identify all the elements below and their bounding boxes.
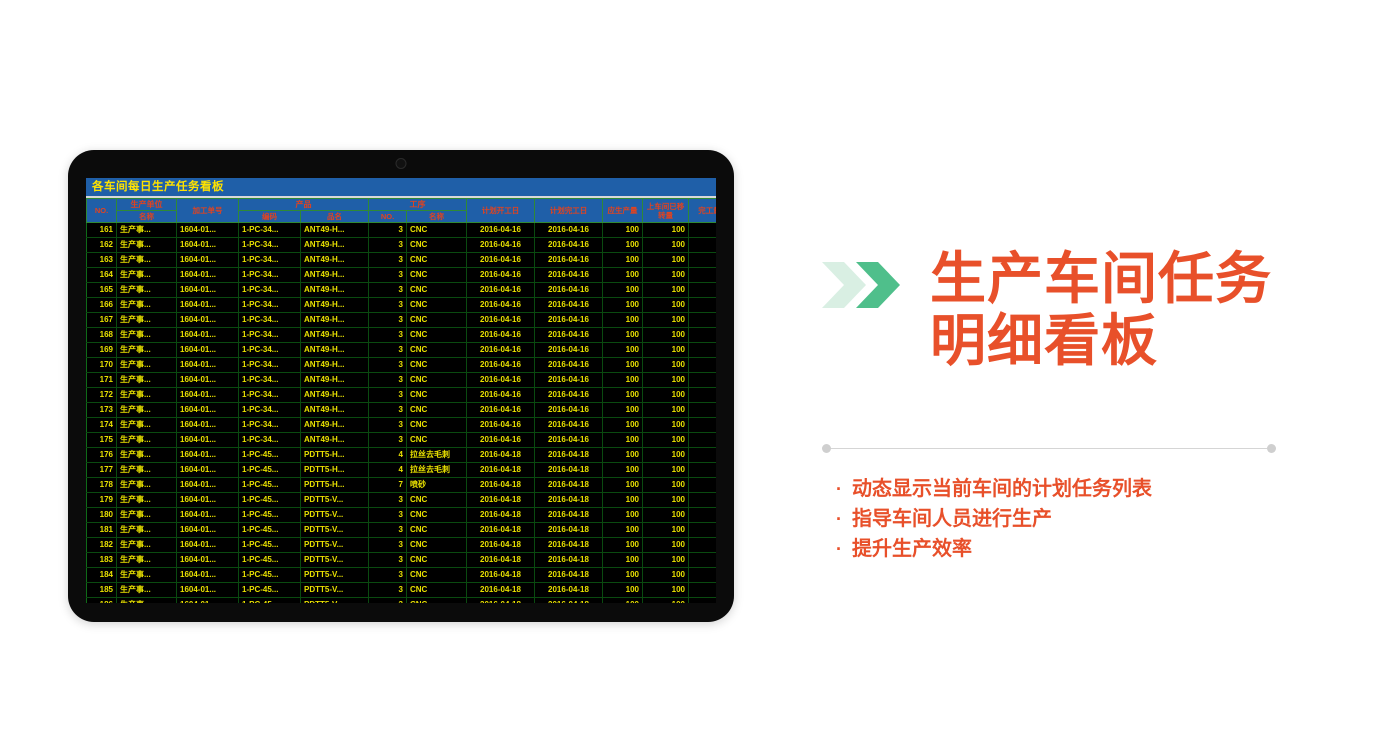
table-row[interactable]: 173生产事...1604-01...1-PC-34...ANT49-H...3… bbox=[87, 403, 717, 418]
row-plan-qty: 100 bbox=[603, 223, 643, 238]
row-plan-end: 2016-04-16 bbox=[535, 358, 603, 373]
row-order-no: 1604-01... bbox=[177, 568, 239, 583]
row-product-name: ANT49-H... bbox=[301, 313, 369, 328]
row-operation-name: CNC bbox=[407, 598, 467, 604]
row-product-name: ANT49-H... bbox=[301, 403, 369, 418]
table-row[interactable]: 183生产事...1604-01...1-PC-45...PDTT5-V...3… bbox=[87, 553, 717, 568]
col-group-product[interactable]: 产品 bbox=[239, 199, 369, 211]
col-group-unit[interactable]: 生产单位 bbox=[117, 199, 177, 211]
row-no: 169 bbox=[87, 343, 117, 358]
row-plan-start: 2016-04-18 bbox=[467, 478, 535, 493]
row-product-code: 1-PC-45... bbox=[239, 583, 301, 598]
row-product-code: 1-PC-34... bbox=[239, 298, 301, 313]
col-unit-name[interactable]: 名称 bbox=[117, 211, 177, 223]
table-row[interactable]: 166生产事...1604-01...1-PC-34...ANT49-H...3… bbox=[87, 298, 717, 313]
row-moved-qty: 100 bbox=[643, 598, 689, 604]
row-no: 176 bbox=[87, 448, 117, 463]
row-plan-start: 2016-04-16 bbox=[467, 298, 535, 313]
col-plan-qty[interactable]: 应生产量 bbox=[603, 199, 643, 223]
row-operation-name: CNC bbox=[407, 283, 467, 298]
row-plan-start: 2016-04-16 bbox=[467, 328, 535, 343]
row-unit-name: 生产事... bbox=[117, 568, 177, 583]
row-done-qty bbox=[689, 313, 717, 328]
row-order-no: 1604-01... bbox=[177, 583, 239, 598]
row-moved-qty: 100 bbox=[643, 328, 689, 343]
row-unit-name: 生产事... bbox=[117, 508, 177, 523]
row-done-qty bbox=[689, 553, 717, 568]
table-row[interactable]: 164生产事...1604-01...1-PC-34...ANT49-H...3… bbox=[87, 268, 717, 283]
row-product-code: 1-PC-45... bbox=[239, 508, 301, 523]
row-plan-qty: 100 bbox=[603, 508, 643, 523]
col-plan-end[interactable]: 计划完工日 bbox=[535, 199, 603, 223]
row-product-code: 1-PC-34... bbox=[239, 238, 301, 253]
row-order-no: 1604-01... bbox=[177, 538, 239, 553]
row-plan-end: 2016-04-16 bbox=[535, 388, 603, 403]
row-plan-start: 2016-04-16 bbox=[467, 238, 535, 253]
row-product-code: 1-PC-45... bbox=[239, 478, 301, 493]
row-done-qty bbox=[689, 448, 717, 463]
row-operation-name: CNC bbox=[407, 223, 467, 238]
row-no: 184 bbox=[87, 568, 117, 583]
row-moved-qty: 100 bbox=[643, 433, 689, 448]
row-product-name: PDTT5-V... bbox=[301, 493, 369, 508]
col-moved-qty[interactable]: 上车间已移转量 bbox=[643, 199, 689, 223]
row-product-code: 1-PC-34... bbox=[239, 358, 301, 373]
row-no: 168 bbox=[87, 328, 117, 343]
row-product-name: ANT49-H... bbox=[301, 388, 369, 403]
row-operation-no: 3 bbox=[369, 253, 407, 268]
row-order-no: 1604-01... bbox=[177, 508, 239, 523]
row-operation-name: CNC bbox=[407, 508, 467, 523]
row-order-no: 1604-01... bbox=[177, 403, 239, 418]
row-operation-no: 3 bbox=[369, 418, 407, 433]
row-moved-qty: 100 bbox=[643, 448, 689, 463]
row-plan-start: 2016-04-18 bbox=[467, 583, 535, 598]
row-product-code: 1-PC-34... bbox=[239, 313, 301, 328]
table-row[interactable]: 162生产事...1604-01...1-PC-34...ANT49-H...3… bbox=[87, 238, 717, 253]
row-product-code: 1-PC-34... bbox=[239, 418, 301, 433]
row-product-code: 1-PC-34... bbox=[239, 433, 301, 448]
row-unit-name: 生产事... bbox=[117, 313, 177, 328]
row-plan-end: 2016-04-16 bbox=[535, 253, 603, 268]
row-order-no: 1604-01... bbox=[177, 343, 239, 358]
row-operation-name: CNC bbox=[407, 568, 467, 583]
col-operation-no[interactable]: NO. bbox=[369, 211, 407, 223]
row-plan-qty: 100 bbox=[603, 478, 643, 493]
row-done-qty bbox=[689, 328, 717, 343]
row-moved-qty: 100 bbox=[643, 583, 689, 598]
row-product-name: ANT49-H... bbox=[301, 433, 369, 448]
row-operation-no: 4 bbox=[369, 463, 407, 478]
row-plan-qty: 100 bbox=[603, 433, 643, 448]
row-moved-qty: 100 bbox=[643, 493, 689, 508]
row-product-name: ANT49-H... bbox=[301, 418, 369, 433]
row-plan-qty: 100 bbox=[603, 463, 643, 478]
row-done-qty bbox=[689, 508, 717, 523]
task-table: NO. 生产单位 加工单号 产品 工序 计划开工日 计划完工日 应生产量 上车间… bbox=[86, 198, 716, 603]
row-product-name: PDTT5-H... bbox=[301, 448, 369, 463]
row-product-name: ANT49-H... bbox=[301, 373, 369, 388]
row-order-no: 1604-01... bbox=[177, 358, 239, 373]
row-product-name: PDTT5-V... bbox=[301, 538, 369, 553]
title-row: 生产车间任务明细看板 bbox=[822, 248, 1292, 372]
row-product-code: 1-PC-34... bbox=[239, 373, 301, 388]
row-product-name: PDTT5-V... bbox=[301, 508, 369, 523]
list-item-label: 指导车间人员进行生产 bbox=[852, 504, 1052, 534]
camera-dot-icon bbox=[396, 158, 407, 169]
row-no: 166 bbox=[87, 298, 117, 313]
row-plan-qty: 100 bbox=[603, 568, 643, 583]
row-done-qty bbox=[689, 388, 717, 403]
row-operation-name: CNC bbox=[407, 523, 467, 538]
row-moved-qty: 100 bbox=[643, 298, 689, 313]
table-row[interactable]: 182生产事...1604-01...1-PC-45...PDTT5-V...3… bbox=[87, 538, 717, 553]
row-plan-start: 2016-04-18 bbox=[467, 448, 535, 463]
row-no: 170 bbox=[87, 358, 117, 373]
row-product-code: 1-PC-34... bbox=[239, 328, 301, 343]
row-plan-qty: 100 bbox=[603, 583, 643, 598]
row-no: 183 bbox=[87, 553, 117, 568]
table-row[interactable]: 184生产事...1604-01...1-PC-45...PDTT5-V...3… bbox=[87, 568, 717, 583]
list-item: ·动态显示当前车间的计划任务列表 bbox=[836, 474, 1296, 504]
row-plan-start: 2016-04-16 bbox=[467, 253, 535, 268]
row-moved-qty: 100 bbox=[643, 283, 689, 298]
row-product-name: PDTT5-V... bbox=[301, 523, 369, 538]
row-done-qty bbox=[689, 568, 717, 583]
row-order-no: 1604-01... bbox=[177, 598, 239, 604]
table-row[interactable]: 175生产事...1604-01...1-PC-34...ANT49-H...3… bbox=[87, 433, 717, 448]
row-operation-name: CNC bbox=[407, 238, 467, 253]
row-plan-start: 2016-04-16 bbox=[467, 373, 535, 388]
table-row[interactable]: 176生产事...1604-01...1-PC-45...PDTT5-H...4… bbox=[87, 448, 717, 463]
table-row[interactable]: 174生产事...1604-01...1-PC-34...ANT49-H...3… bbox=[87, 418, 717, 433]
row-product-name: ANT49-H... bbox=[301, 298, 369, 313]
row-no: 164 bbox=[87, 268, 117, 283]
row-plan-end: 2016-04-16 bbox=[535, 238, 603, 253]
row-plan-start: 2016-04-16 bbox=[467, 403, 535, 418]
table-row[interactable]: 161生产事...1604-01...1-PC-34...ANT49-H...3… bbox=[87, 223, 717, 238]
row-operation-no: 3 bbox=[369, 538, 407, 553]
row-product-code: 1-PC-34... bbox=[239, 343, 301, 358]
row-product-name: ANT49-H... bbox=[301, 358, 369, 373]
row-unit-name: 生产事... bbox=[117, 463, 177, 478]
row-plan-qty: 100 bbox=[603, 328, 643, 343]
row-done-qty bbox=[689, 523, 717, 538]
row-operation-name: CNC bbox=[407, 493, 467, 508]
content-panel: 生产车间任务明细看板 bbox=[822, 248, 1292, 372]
row-no: 175 bbox=[87, 433, 117, 448]
row-product-name: ANT49-H... bbox=[301, 223, 369, 238]
row-plan-end: 2016-04-18 bbox=[535, 508, 603, 523]
row-plan-qty: 100 bbox=[603, 313, 643, 328]
row-plan-end: 2016-04-16 bbox=[535, 433, 603, 448]
row-unit-name: 生产事... bbox=[117, 283, 177, 298]
row-unit-name: 生产事... bbox=[117, 328, 177, 343]
row-done-qty bbox=[689, 538, 717, 553]
row-product-code: 1-PC-45... bbox=[239, 598, 301, 604]
col-no[interactable]: NO. bbox=[87, 199, 117, 223]
row-moved-qty: 100 bbox=[643, 553, 689, 568]
list-item-label: 动态显示当前车间的计划任务列表 bbox=[852, 474, 1152, 504]
row-unit-name: 生产事... bbox=[117, 448, 177, 463]
row-unit-name: 生产事... bbox=[117, 553, 177, 568]
table-row[interactable]: 186生产事...1604-01...1-PC-45...PDTT5-V...3… bbox=[87, 598, 717, 604]
row-done-qty bbox=[689, 403, 717, 418]
table-row[interactable]: 177生产事...1604-01...1-PC-45...PDTT5-H...4… bbox=[87, 463, 717, 478]
row-plan-end: 2016-04-18 bbox=[535, 493, 603, 508]
tablet-device: 各车间每日生产任务看板 NO. 生产单位 加工单号 产品 工序 bbox=[68, 150, 734, 622]
row-order-no: 1604-01... bbox=[177, 238, 239, 253]
row-operation-no: 3 bbox=[369, 493, 407, 508]
row-plan-start: 2016-04-16 bbox=[467, 283, 535, 298]
row-operation-name: CNC bbox=[407, 538, 467, 553]
row-operation-no: 3 bbox=[369, 523, 407, 538]
row-plan-start: 2016-04-18 bbox=[467, 598, 535, 604]
row-unit-name: 生产事... bbox=[117, 478, 177, 493]
row-unit-name: 生产事... bbox=[117, 418, 177, 433]
row-operation-no: 3 bbox=[369, 328, 407, 343]
table-row[interactable]: 178生产事...1604-01...1-PC-45...PDTT5-H...7… bbox=[87, 478, 717, 493]
row-product-code: 1-PC-45... bbox=[239, 463, 301, 478]
table-row[interactable]: 181生产事...1604-01...1-PC-45...PDTT5-V...3… bbox=[87, 523, 717, 538]
row-product-code: 1-PC-45... bbox=[239, 493, 301, 508]
col-plan-start[interactable]: 计划开工日 bbox=[467, 199, 535, 223]
row-operation-name: CNC bbox=[407, 298, 467, 313]
row-operation-name: CNC bbox=[407, 373, 467, 388]
row-plan-qty: 100 bbox=[603, 283, 643, 298]
row-product-name: ANT49-H... bbox=[301, 238, 369, 253]
table-row[interactable]: 165生产事...1604-01...1-PC-34...ANT49-H...3… bbox=[87, 283, 717, 298]
row-plan-end: 2016-04-18 bbox=[535, 553, 603, 568]
row-plan-start: 2016-04-18 bbox=[467, 538, 535, 553]
row-product-code: 1-PC-34... bbox=[239, 388, 301, 403]
table-row[interactable]: 180生产事...1604-01...1-PC-45...PDTT5-V...3… bbox=[87, 508, 717, 523]
row-no: 165 bbox=[87, 283, 117, 298]
row-order-no: 1604-01... bbox=[177, 463, 239, 478]
row-operation-no: 3 bbox=[369, 403, 407, 418]
table-row[interactable]: 168生产事...1604-01...1-PC-34...ANT49-H...3… bbox=[87, 328, 717, 343]
row-plan-end: 2016-04-16 bbox=[535, 418, 603, 433]
divider-dot-left bbox=[822, 444, 831, 453]
table-row[interactable]: 167生产事...1604-01...1-PC-34...ANT49-H...3… bbox=[87, 313, 717, 328]
row-operation-name: CNC bbox=[407, 253, 467, 268]
row-order-no: 1604-01... bbox=[177, 523, 239, 538]
row-plan-end: 2016-04-18 bbox=[535, 598, 603, 604]
row-plan-qty: 100 bbox=[603, 493, 643, 508]
row-product-code: 1-PC-34... bbox=[239, 403, 301, 418]
table-row[interactable]: 185生产事...1604-01...1-PC-45...PDTT5-V...3… bbox=[87, 583, 717, 598]
row-moved-qty: 100 bbox=[643, 568, 689, 583]
row-unit-name: 生产事... bbox=[117, 343, 177, 358]
divider-line bbox=[831, 448, 1267, 449]
row-operation-name: CNC bbox=[407, 553, 467, 568]
header-row-group: NO. 生产单位 加工单号 产品 工序 计划开工日 计划完工日 应生产量 上车间… bbox=[87, 199, 717, 211]
tablet-screen: 各车间每日生产任务看板 NO. 生产单位 加工单号 产品 工序 bbox=[86, 178, 716, 603]
row-operation-name: CNC bbox=[407, 313, 467, 328]
row-moved-qty: 100 bbox=[643, 373, 689, 388]
row-plan-end: 2016-04-16 bbox=[535, 373, 603, 388]
row-plan-start: 2016-04-16 bbox=[467, 358, 535, 373]
row-operation-name: CNC bbox=[407, 268, 467, 283]
row-product-code: 1-PC-45... bbox=[239, 538, 301, 553]
row-product-name: ANT49-H... bbox=[301, 253, 369, 268]
list-item: ·提升生产效率 bbox=[836, 534, 1296, 564]
row-no: 182 bbox=[87, 538, 117, 553]
col-done-qty[interactable]: 完工量 bbox=[689, 199, 717, 223]
row-done-qty bbox=[689, 418, 717, 433]
row-operation-no: 3 bbox=[369, 553, 407, 568]
bullet-mark-icon: · bbox=[836, 504, 842, 534]
table-row[interactable]: 163生产事...1604-01...1-PC-34...ANT49-H...3… bbox=[87, 253, 717, 268]
row-order-no: 1604-01... bbox=[177, 328, 239, 343]
row-plan-qty: 100 bbox=[603, 403, 643, 418]
col-order[interactable]: 加工单号 bbox=[177, 199, 239, 223]
row-plan-start: 2016-04-18 bbox=[467, 463, 535, 478]
row-plan-end: 2016-04-16 bbox=[535, 403, 603, 418]
row-done-qty bbox=[689, 358, 717, 373]
row-operation-no: 3 bbox=[369, 268, 407, 283]
row-operation-no: 3 bbox=[369, 358, 407, 373]
row-plan-start: 2016-04-16 bbox=[467, 343, 535, 358]
row-moved-qty: 100 bbox=[643, 538, 689, 553]
row-product-name: ANT49-H... bbox=[301, 283, 369, 298]
row-no: 162 bbox=[87, 238, 117, 253]
row-plan-start: 2016-04-18 bbox=[467, 568, 535, 583]
col-operation-name[interactable]: 名称 bbox=[407, 211, 467, 223]
row-product-code: 1-PC-45... bbox=[239, 568, 301, 583]
row-unit-name: 生产事... bbox=[117, 523, 177, 538]
table-row[interactable]: 169生产事...1604-01...1-PC-34...ANT49-H...3… bbox=[87, 343, 717, 358]
row-plan-start: 2016-04-18 bbox=[467, 553, 535, 568]
row-moved-qty: 100 bbox=[643, 238, 689, 253]
row-no: 177 bbox=[87, 463, 117, 478]
table-header: NO. 生产单位 加工单号 产品 工序 计划开工日 计划完工日 应生产量 上车间… bbox=[87, 199, 717, 223]
col-group-operation[interactable]: 工序 bbox=[369, 199, 467, 211]
list-item: ·指导车间人员进行生产 bbox=[836, 504, 1296, 534]
row-moved-qty: 100 bbox=[643, 358, 689, 373]
row-product-name: PDTT5-V... bbox=[301, 583, 369, 598]
table-row[interactable]: 172生产事...1604-01...1-PC-34...ANT49-H...3… bbox=[87, 388, 717, 403]
row-product-name: PDTT5-V... bbox=[301, 568, 369, 583]
row-no: 161 bbox=[87, 223, 117, 238]
row-operation-name: CNC bbox=[407, 343, 467, 358]
row-moved-qty: 100 bbox=[643, 313, 689, 328]
row-plan-qty: 100 bbox=[603, 343, 643, 358]
row-unit-name: 生产事... bbox=[117, 583, 177, 598]
row-done-qty bbox=[689, 238, 717, 253]
row-no: 180 bbox=[87, 508, 117, 523]
row-no: 174 bbox=[87, 418, 117, 433]
row-done-qty bbox=[689, 478, 717, 493]
row-done-qty bbox=[689, 583, 717, 598]
row-done-qty bbox=[689, 298, 717, 313]
table-row[interactable]: 179生产事...1604-01...1-PC-45...PDTT5-V...3… bbox=[87, 493, 717, 508]
bullet-mark-icon: · bbox=[836, 534, 842, 564]
row-plan-qty: 100 bbox=[603, 373, 643, 388]
col-product-name[interactable]: 品名 bbox=[301, 211, 369, 223]
col-product-code[interactable]: 编码 bbox=[239, 211, 301, 223]
row-done-qty bbox=[689, 493, 717, 508]
row-plan-end: 2016-04-18 bbox=[535, 478, 603, 493]
row-product-name: PDTT5-V... bbox=[301, 553, 369, 568]
row-operation-no: 3 bbox=[369, 433, 407, 448]
row-done-qty bbox=[689, 343, 717, 358]
row-operation-name: CNC bbox=[407, 418, 467, 433]
row-order-no: 1604-01... bbox=[177, 268, 239, 283]
row-moved-qty: 100 bbox=[643, 223, 689, 238]
row-plan-qty: 100 bbox=[603, 448, 643, 463]
table-row[interactable]: 171生产事...1604-01...1-PC-34...ANT49-H...3… bbox=[87, 373, 717, 388]
row-moved-qty: 100 bbox=[643, 463, 689, 478]
row-operation-no: 4 bbox=[369, 448, 407, 463]
row-operation-name: 喷砂 bbox=[407, 478, 467, 493]
row-product-name: ANT49-H... bbox=[301, 343, 369, 358]
divider-dot-right bbox=[1267, 444, 1276, 453]
row-no: 163 bbox=[87, 253, 117, 268]
row-plan-end: 2016-04-16 bbox=[535, 343, 603, 358]
row-done-qty bbox=[689, 283, 717, 298]
table-row[interactable]: 170生产事...1604-01...1-PC-34...ANT49-H...3… bbox=[87, 358, 717, 373]
row-moved-qty: 100 bbox=[643, 403, 689, 418]
row-plan-end: 2016-04-18 bbox=[535, 448, 603, 463]
row-product-code: 1-PC-34... bbox=[239, 268, 301, 283]
row-plan-qty: 100 bbox=[603, 523, 643, 538]
row-no: 179 bbox=[87, 493, 117, 508]
row-operation-name: CNC bbox=[407, 403, 467, 418]
row-product-code: 1-PC-34... bbox=[239, 223, 301, 238]
row-operation-no: 7 bbox=[369, 478, 407, 493]
row-plan-end: 2016-04-18 bbox=[535, 523, 603, 538]
row-order-no: 1604-01... bbox=[177, 223, 239, 238]
row-plan-end: 2016-04-18 bbox=[535, 568, 603, 583]
row-plan-start: 2016-04-18 bbox=[467, 523, 535, 538]
row-operation-no: 3 bbox=[369, 373, 407, 388]
row-product-code: 1-PC-34... bbox=[239, 253, 301, 268]
row-plan-start: 2016-04-16 bbox=[467, 313, 535, 328]
section-divider bbox=[822, 444, 1276, 453]
row-operation-name: CNC bbox=[407, 433, 467, 448]
row-moved-qty: 100 bbox=[643, 388, 689, 403]
row-plan-end: 2016-04-18 bbox=[535, 538, 603, 553]
row-product-name: ANT49-H... bbox=[301, 328, 369, 343]
row-moved-qty: 100 bbox=[643, 508, 689, 523]
row-operation-no: 3 bbox=[369, 223, 407, 238]
row-product-name: PDTT5-V... bbox=[301, 598, 369, 604]
row-plan-qty: 100 bbox=[603, 238, 643, 253]
row-operation-name: 拉丝去毛刺 bbox=[407, 463, 467, 478]
row-order-no: 1604-01... bbox=[177, 388, 239, 403]
row-plan-end: 2016-04-18 bbox=[535, 463, 603, 478]
row-moved-qty: 100 bbox=[643, 478, 689, 493]
row-order-no: 1604-01... bbox=[177, 253, 239, 268]
row-no: 186 bbox=[87, 598, 117, 604]
row-plan-qty: 100 bbox=[603, 253, 643, 268]
row-operation-name: 拉丝去毛刺 bbox=[407, 448, 467, 463]
row-order-no: 1604-01... bbox=[177, 373, 239, 388]
row-plan-start: 2016-04-16 bbox=[467, 268, 535, 283]
row-operation-no: 3 bbox=[369, 508, 407, 523]
row-no: 171 bbox=[87, 373, 117, 388]
row-unit-name: 生产事... bbox=[117, 298, 177, 313]
row-order-no: 1604-01... bbox=[177, 493, 239, 508]
row-plan-qty: 100 bbox=[603, 388, 643, 403]
table-body: 161生产事...1604-01...1-PC-34...ANT49-H...3… bbox=[87, 223, 717, 604]
row-unit-name: 生产事... bbox=[117, 493, 177, 508]
row-product-name: PDTT5-H... bbox=[301, 463, 369, 478]
double-chevron-right-icon bbox=[822, 262, 904, 313]
row-order-no: 1604-01... bbox=[177, 553, 239, 568]
row-plan-qty: 100 bbox=[603, 298, 643, 313]
